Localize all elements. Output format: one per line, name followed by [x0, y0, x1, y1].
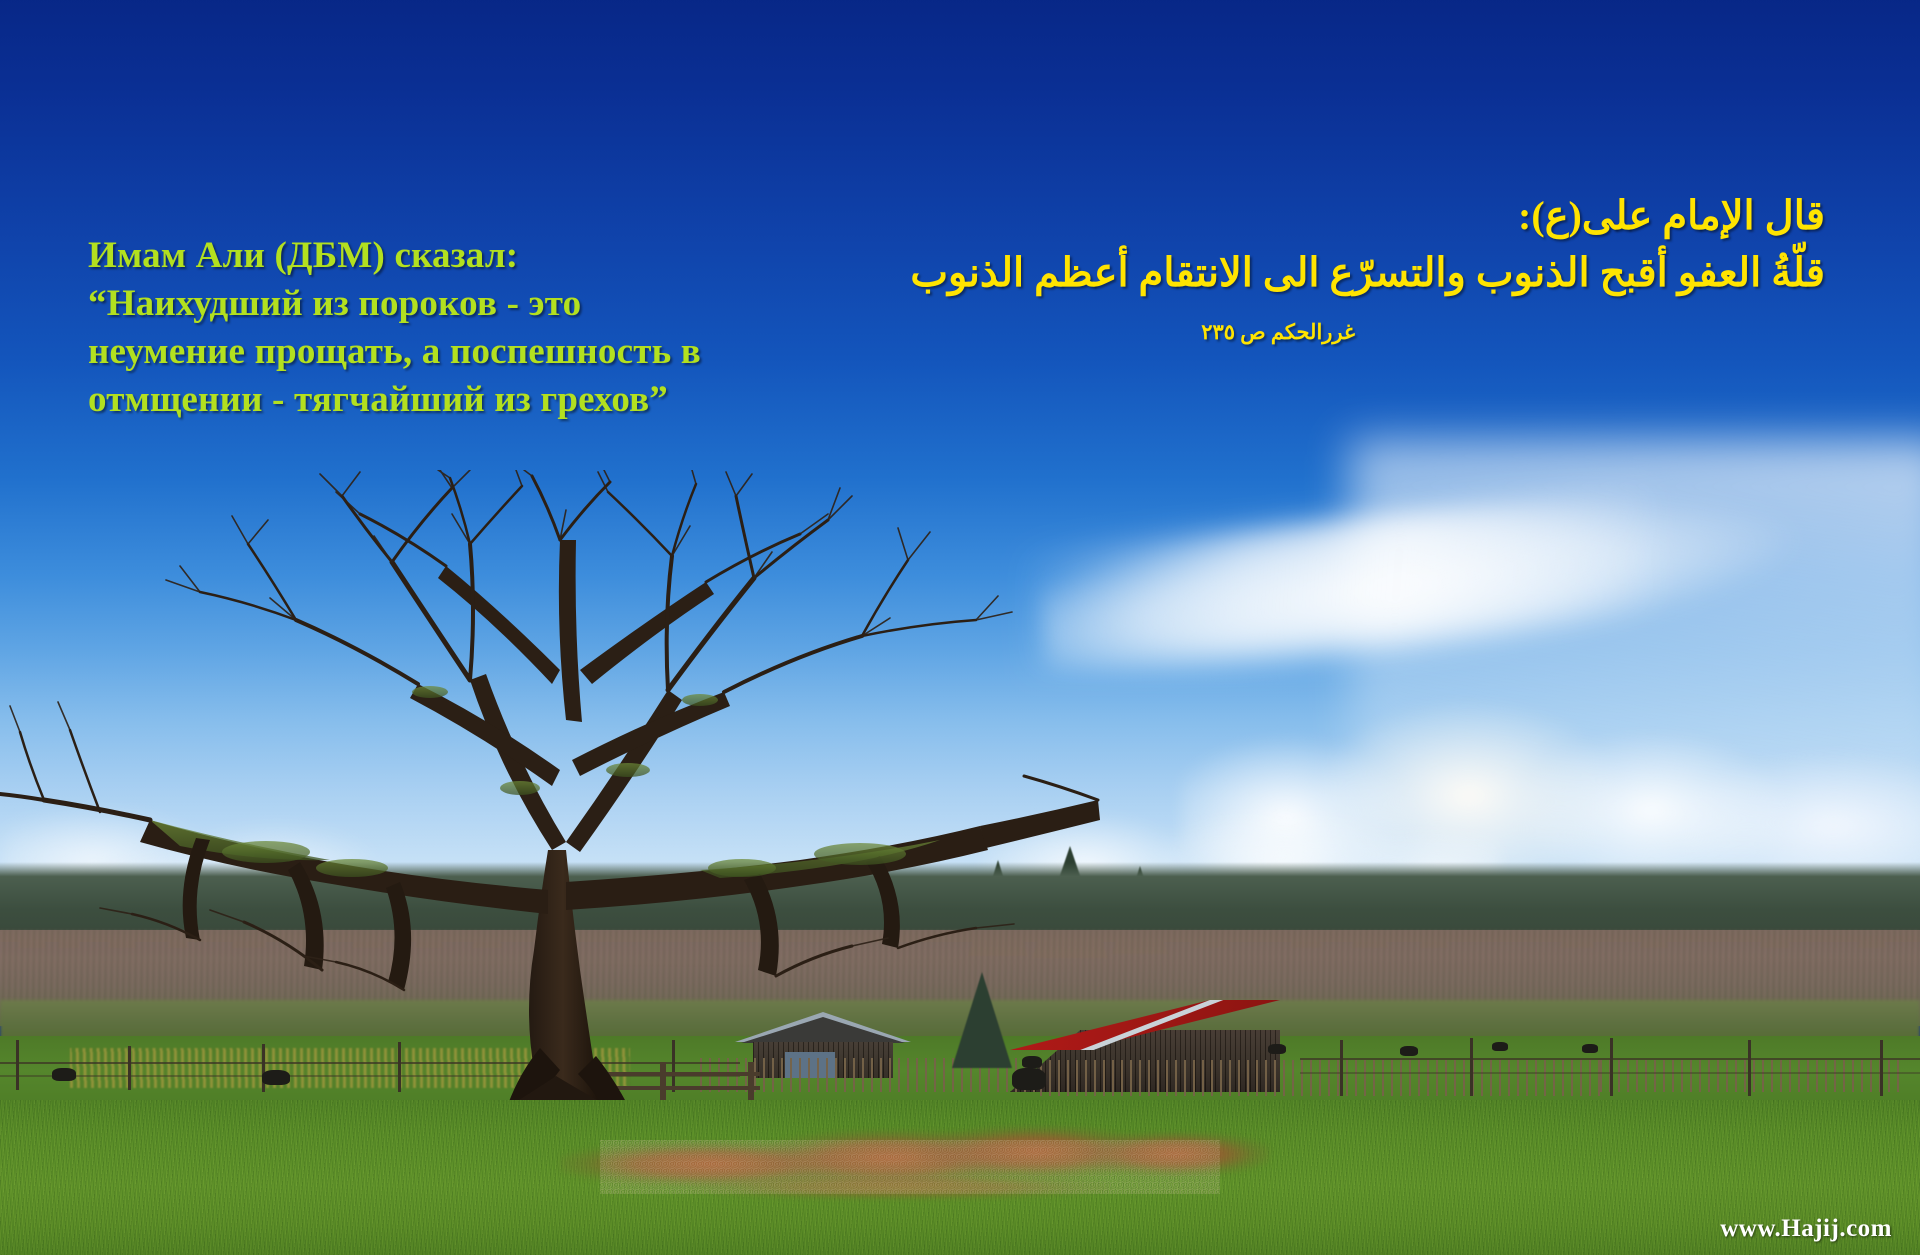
cattle-icon	[52, 1068, 76, 1081]
cattle-icon	[1492, 1042, 1508, 1051]
fence-post	[262, 1044, 265, 1092]
cattle-icon	[1012, 1068, 1046, 1090]
fence-post	[1470, 1038, 1473, 1096]
fence-post	[1610, 1038, 1613, 1096]
corral-fence	[1040, 1060, 1600, 1096]
fence-post	[128, 1046, 131, 1090]
fence-post	[572, 1062, 578, 1104]
site-watermark[interactable]: www.Hajij.com	[1720, 1215, 1892, 1243]
fence-post	[660, 1062, 666, 1104]
russian-quote-line-3: отмщении - тягчайший из грехов”	[88, 376, 908, 424]
stubble-rows	[70, 1048, 630, 1088]
wire-fence-line	[1300, 1072, 1920, 1074]
cattle-icon	[1582, 1044, 1598, 1053]
cattle-icon	[1268, 1044, 1286, 1054]
conifer-tree-icon	[952, 972, 1012, 1068]
arabic-quote-text: قلّةُ العفو أقبح الذنوب والتسرّع الى الا…	[695, 242, 1825, 304]
arabic-citation: غررالحكم ص ٢٣٥	[695, 304, 1355, 360]
wire-fence-line	[1300, 1058, 1920, 1060]
barn-roof-shade	[741, 1017, 905, 1043]
fence-post	[1340, 1040, 1343, 1096]
cattle-icon	[262, 1070, 290, 1085]
fence-post	[1880, 1040, 1883, 1096]
poster-canvas: Имам Али (ДБМ) сказал: “Наихудший из пор…	[0, 0, 1920, 1255]
fence-post	[672, 1040, 675, 1092]
gravel-speckle	[600, 1140, 1220, 1194]
fence-post	[540, 1044, 543, 1092]
arabic-attribution: قال الإمام على(ع):	[695, 190, 1825, 242]
fence-post	[748, 1062, 754, 1104]
wire-fence-line	[0, 1062, 740, 1064]
fence-post	[1748, 1040, 1751, 1096]
cattle-icon	[1400, 1046, 1418, 1056]
arabic-quote-block: قال الإمام على(ع): قلّةُ العفو أقبح الذن…	[695, 190, 1825, 360]
cattle-icon	[1022, 1056, 1042, 1068]
fence-post	[398, 1042, 401, 1092]
fence-post	[16, 1040, 19, 1090]
